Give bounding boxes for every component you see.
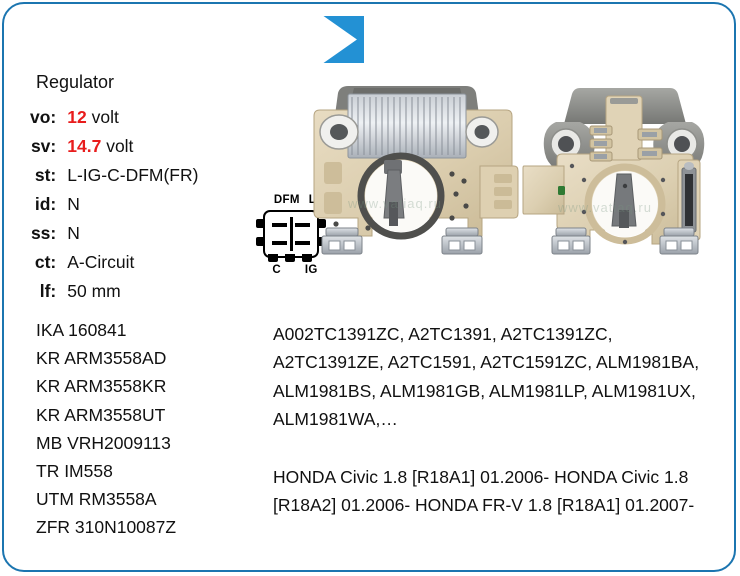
spec-row-id: id: N [30,191,198,220]
header-ribbon-content: IM558 [12,16,364,63]
spec-value-id: N [67,191,198,220]
list-item: IKA 160841 [36,316,176,344]
spec-value-vo: 12 volt [67,104,198,133]
spec-value-vo-number: 12 [67,107,86,127]
spec-label-id: id: [30,191,67,220]
spec-value-lf: 50 mm [67,278,198,307]
spec-value-sv: 14.7 volt [67,133,198,162]
list-item: ZFR 310N10087Z [36,513,176,541]
product-type-label: Regulator [36,72,114,93]
list-item: MB VRH2009113 [36,429,176,457]
list-item: KR ARM3558AD [36,344,176,372]
regulator-rear-photo [522,82,728,262]
spec-label-ct: ct: [30,249,67,278]
spec-value-ss: N [67,220,198,249]
spec-row-lf: lf: 50 mm [30,278,198,307]
spec-unit-vo: volt [92,107,119,127]
oe-numbers-text: A002TC1391ZC, A2TC1391, A2TC1391ZC, A2TC… [273,320,723,434]
pin-label-dfm: DFM [274,194,300,206]
vehicle-applications-text: HONDA Civic 1.8 [R18A1] 01.2006- HONDA C… [273,463,725,520]
spec-row-ct: ct: A-Circuit [30,249,198,278]
list-item: KR ARM3558KR [36,372,176,400]
spec-row-sv: sv: 14.7 volt [30,133,198,162]
product-card: IM558 Regulator vo: 12 volt sv: 14.7 vol… [0,0,740,576]
spec-unit-sv: volt [106,136,133,156]
spec-row-vo: vo: 12 volt [30,104,198,133]
part-number-list: IKA 160841 KR ARM3558AD KR ARM3558KR KR … [36,316,176,542]
spec-label-vo: vo: [30,104,67,133]
pin-label-c: C [272,264,281,276]
spec-row-st: st: L-IG-C-DFM(FR) [30,162,198,191]
spec-value-st: L-IG-C-DFM(FR) [67,162,198,191]
spec-row-ss: ss: N [30,220,198,249]
spec-label-st: st: [30,162,67,191]
list-item: TR IM558 [36,457,176,485]
specifications-table: vo: 12 volt sv: 14.7 volt st: L-IG-C-DFM… [30,104,198,307]
spec-value-ct: A-Circuit [67,249,198,278]
spec-label-lf: lf: [30,278,67,307]
spec-value-sv-number: 14.7 [67,136,101,156]
regulator-front-photo [306,82,520,262]
list-item: KR ARM3558UT [36,401,176,429]
page-title: IM558 [38,24,124,55]
spec-label-sv: sv: [30,133,67,162]
list-item: UTM RM3558A [36,485,176,513]
spec-label-ss: ss: [30,220,67,249]
product-photos: www.vatiaq.ru www.vatiaq.ru [300,78,730,268]
